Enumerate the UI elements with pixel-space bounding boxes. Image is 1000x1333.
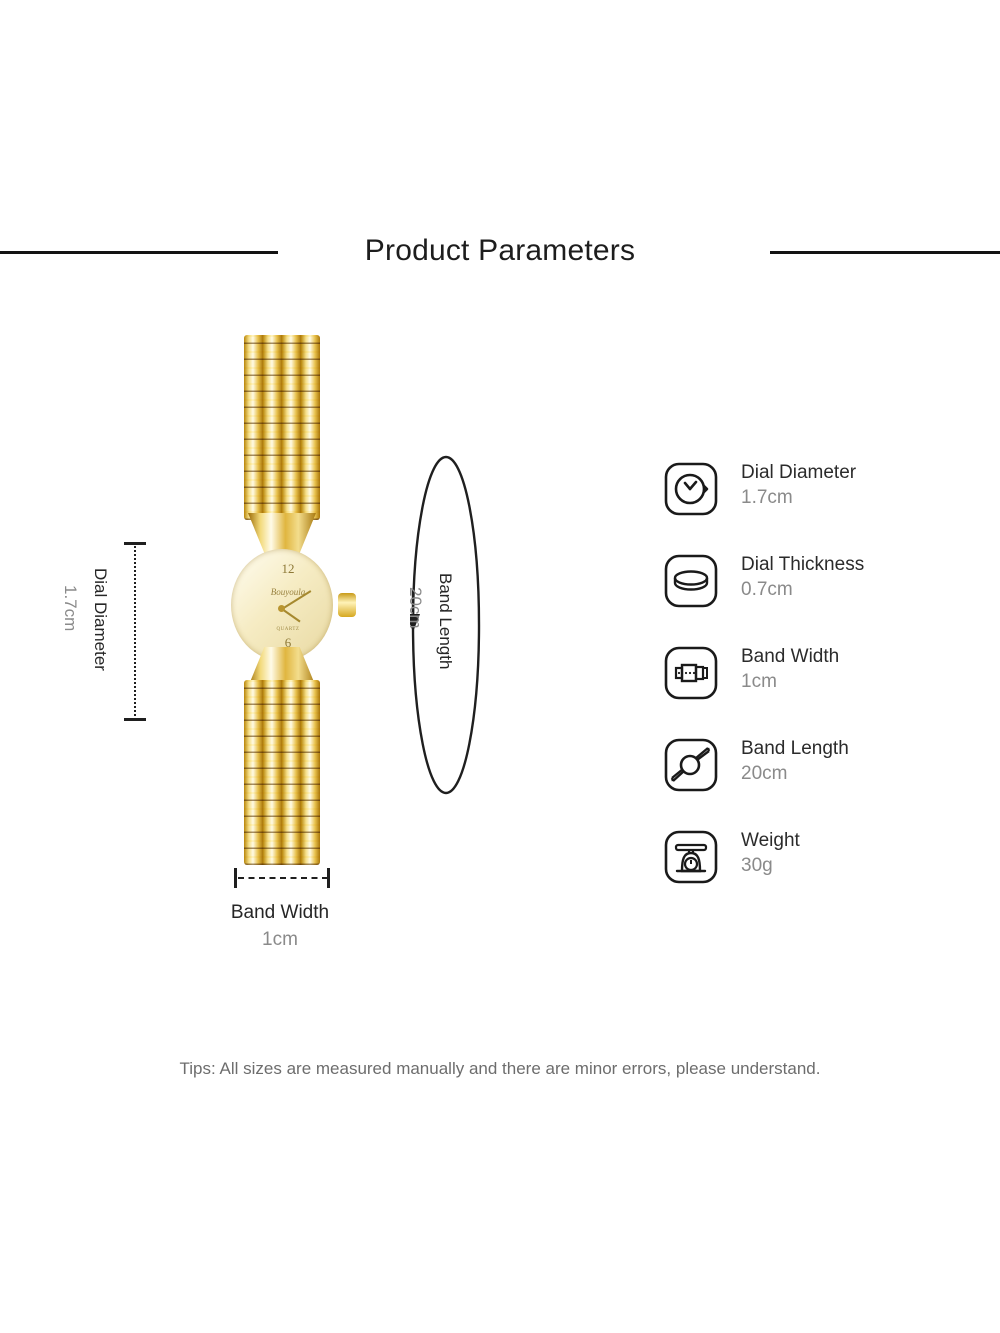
band-length-label: Band Length — [435, 573, 455, 669]
band-width-cap-left — [234, 868, 237, 888]
dial-diameter-cap-bottom — [124, 718, 146, 721]
dial-brand-text: Bouyoula — [208, 587, 368, 597]
watch-side-icon — [663, 645, 719, 701]
band-width-cap-right — [327, 868, 330, 888]
kitchen-scale-icon — [663, 829, 719, 885]
spec-row-weight: Weight 30g — [663, 826, 983, 918]
title-rule-right — [770, 251, 1000, 254]
dial-hour-6: 6 — [208, 635, 368, 651]
spec-label: Dial Diameter — [741, 460, 856, 485]
spec-value: 20cm — [741, 761, 849, 786]
band-length-value: 20cm — [405, 587, 425, 629]
dial-diameter-value: 1.7cm — [60, 585, 80, 631]
spec-text-weight: Weight 30g — [741, 826, 800, 879]
watch-strap-icon — [663, 737, 719, 793]
band-width-dimension-line — [238, 877, 328, 879]
spec-text-band-width: Band Width 1cm — [741, 642, 839, 695]
tips-text: Tips: All sizes are measured manually an… — [0, 1059, 1000, 1079]
spec-value: 30g — [741, 853, 800, 878]
spec-text-dial-thickness: Dial Thickness 0.7cm — [741, 550, 864, 603]
spec-row-dial-diameter: Dial Diameter 1.7cm — [663, 458, 983, 550]
watch-product-image: 12 Bouyoula QUARTZ 6 — [208, 335, 368, 865]
spec-text-band-length: Band Length 20cm — [741, 734, 849, 787]
watch-band-lower — [244, 680, 320, 865]
spec-row-dial-thickness: Dial Thickness 0.7cm — [663, 550, 983, 642]
disc-icon — [663, 553, 719, 609]
spec-label: Band Length — [741, 736, 849, 761]
dial-hour-12: 12 — [208, 561, 368, 577]
watch-face-icon — [663, 461, 719, 517]
dial-diameter-label: Dial Diameter — [90, 568, 110, 671]
spec-text-dial-diameter: Dial Diameter 1.7cm — [741, 458, 856, 511]
spec-label: Weight — [741, 828, 800, 853]
product-parameters-page: Product Parameters 12 Bouyoula QUARTZ 6 … — [0, 0, 1000, 1333]
spec-list: Dial Diameter 1.7cm Dial Thickness 0.7cm — [663, 458, 983, 918]
dial-diameter-dimension-line — [134, 543, 136, 720]
spec-value: 1.7cm — [741, 485, 856, 510]
band-width-value: 1cm — [168, 929, 392, 951]
spec-row-band-width: Band Width 1cm — [663, 642, 983, 734]
spec-row-band-length: Band Length 20cm — [663, 734, 983, 826]
dial-movement-text: QUARTZ — [208, 627, 368, 632]
spec-value: 1cm — [741, 669, 839, 694]
band-width-label: Band Width — [168, 902, 392, 924]
spec-label: Dial Thickness — [741, 552, 864, 577]
dial-pivot — [278, 605, 285, 612]
spec-value: 0.7cm — [741, 577, 864, 602]
spec-label: Band Width — [741, 644, 839, 669]
watch-band-upper — [244, 335, 320, 520]
